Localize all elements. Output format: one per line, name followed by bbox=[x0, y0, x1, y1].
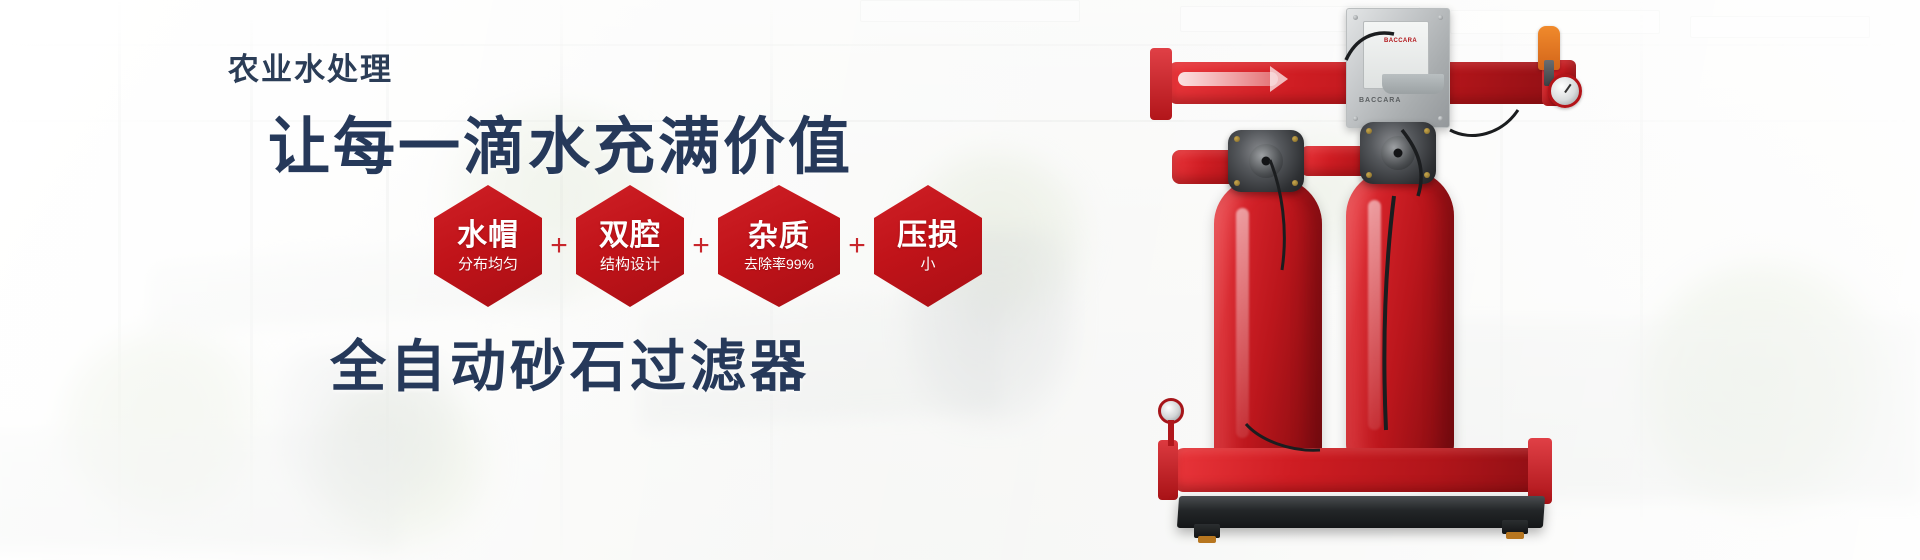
feature-badge-water-cap[interactable]: 水帽 分布均匀 bbox=[434, 185, 542, 307]
valve-hub bbox=[1381, 136, 1415, 170]
filter-vessel-right bbox=[1346, 170, 1454, 470]
base-skid-frame bbox=[1177, 496, 1545, 528]
three-way-valve-right bbox=[1360, 122, 1436, 184]
bolt bbox=[1366, 172, 1372, 178]
badge-subtitle: 小 bbox=[920, 257, 935, 272]
tank-highlight bbox=[1368, 200, 1381, 430]
badge-separator-plus-icon: + bbox=[842, 231, 872, 261]
controller-faceplate: BACCARA bbox=[1363, 21, 1429, 89]
bolt bbox=[1292, 136, 1298, 142]
badge-subtitle: 结构设计 bbox=[600, 257, 660, 272]
feature-badge-dual-chamber[interactable]: 双腔 结构设计 bbox=[576, 185, 684, 307]
controller-logo-label: BACCARA bbox=[1359, 97, 1401, 104]
controller-box: BACCARA BACCARA bbox=[1346, 8, 1450, 128]
bolt bbox=[1353, 116, 1358, 121]
promo-banner: BACCARA BACCARA bbox=[0, 0, 1920, 560]
valve-hub bbox=[1249, 144, 1283, 178]
skid-foot-pad bbox=[1506, 532, 1524, 539]
feature-badge-pressure-loss[interactable]: 压损 小 bbox=[874, 185, 982, 307]
banner-subheadline: 全自动砂石过滤器 bbox=[330, 322, 810, 403]
bolt bbox=[1234, 180, 1240, 186]
pressure-gauge-top bbox=[1548, 74, 1582, 108]
badge-subtitle: 去除率99% bbox=[744, 257, 814, 271]
bolt bbox=[1234, 136, 1240, 142]
badge-separator-plus-icon: + bbox=[686, 231, 716, 261]
badge-subtitle: 分布均匀 bbox=[458, 257, 518, 272]
tank-highlight bbox=[1236, 208, 1249, 438]
bolt bbox=[1292, 180, 1298, 186]
flow-direction-arrow-icon bbox=[1270, 66, 1288, 92]
controller-brand-label: BACCARA bbox=[1384, 38, 1417, 44]
badge-title: 杂质 bbox=[748, 221, 810, 253]
three-way-valve-left bbox=[1228, 130, 1304, 192]
bolt bbox=[1424, 128, 1430, 134]
bolt bbox=[1366, 128, 1372, 134]
bolt bbox=[1438, 116, 1443, 121]
product-photo-sand-gravel-filter: BACCARA BACCARA bbox=[1150, 0, 1770, 560]
filter-vessel-left bbox=[1214, 178, 1322, 478]
bolt bbox=[1438, 15, 1443, 20]
badge-title: 压损 bbox=[897, 220, 959, 252]
outlet-flange bbox=[1528, 438, 1552, 504]
photo-edge-fade bbox=[1110, 0, 1230, 560]
badge-title: 水帽 bbox=[457, 220, 519, 252]
controller-display bbox=[1382, 74, 1444, 94]
banner-eyebrow: 农业水处理 bbox=[228, 44, 393, 89]
bolt bbox=[1353, 15, 1358, 20]
banner-headline: 让每一滴水充满价值 bbox=[268, 96, 853, 186]
badge-separator-plus-icon: + bbox=[544, 231, 574, 261]
badge-title: 双腔 bbox=[599, 220, 661, 252]
feature-badge-row: 水帽 分布均匀 + 双腔 结构设计 + 杂质 去除率99% + 压损 小 bbox=[432, 185, 984, 307]
banner-copy-block: 农业水处理 让每一滴水充满价值 全自动砂石过滤器 水帽 分布均匀 + 双腔 结构… bbox=[0, 0, 1120, 560]
bolt bbox=[1424, 172, 1430, 178]
feature-badge-impurity-removal[interactable]: 杂质 去除率99% bbox=[718, 185, 840, 307]
